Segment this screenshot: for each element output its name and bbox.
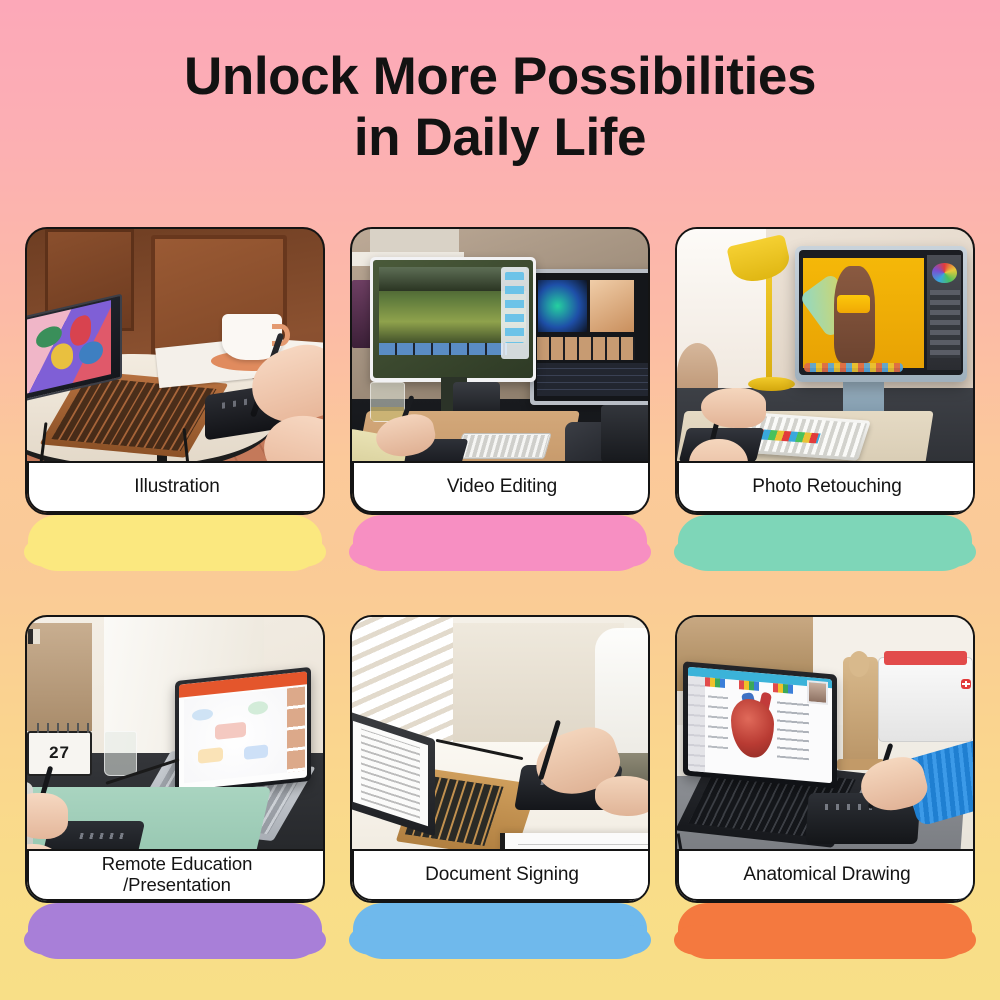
imac-display (795, 246, 967, 382)
first-aid-box (878, 657, 973, 742)
red-cross-icon (961, 679, 971, 688)
secondary-monitor (530, 269, 648, 405)
flip-calendar: 27 (27, 731, 92, 776)
card-frame: Video Editing (350, 227, 650, 515)
use-case-card-anatomical-drawing[interactable]: Anatomical Drawing (675, 615, 975, 947)
card-label-anatomical-drawing: Anatomical Drawing (677, 849, 975, 901)
card-label-illustration: Illustration (27, 461, 325, 513)
use-case-card-illustration[interactable]: Illustration (25, 227, 325, 559)
use-case-card-video-editing[interactable]: Video Editing (350, 227, 650, 559)
keyboard (455, 433, 551, 459)
card-label-line-2: /Presentation (102, 875, 253, 896)
page-title: Unlock More Possibilities in Daily Life (0, 46, 1000, 169)
card-frame: Photo Retouching (675, 227, 975, 515)
card-frame: Document Signing (350, 615, 650, 903)
card-frame: 27 (25, 615, 325, 903)
page-title-line-1: Unlock More Possibilities (184, 47, 816, 106)
camera-body (601, 405, 648, 462)
hand (595, 776, 648, 816)
card-shadow-blob (28, 903, 322, 959)
use-case-card-photo-retouching[interactable]: Photo Retouching (675, 227, 975, 559)
video-call-strip (287, 686, 305, 772)
use-case-card-remote-education[interactable]: 27 (25, 615, 325, 947)
card-shadow-blob (353, 515, 647, 571)
card-shadow-blob (678, 515, 972, 571)
laptop-screen-anatomy (683, 661, 837, 788)
card-shadow-blob (678, 903, 972, 959)
card-label-document-signing: Document Signing (352, 849, 650, 901)
card-label-video-editing: Video Editing (352, 461, 650, 513)
card-frame: Illustration (25, 227, 325, 515)
card-shadow-blob (28, 515, 322, 571)
card-label-line-1: Remote Education (102, 854, 253, 875)
card-label-photo-retouching: Photo Retouching (677, 461, 975, 513)
laptop-screen-mindmap (175, 667, 311, 795)
use-case-card-grid: Illustration (25, 227, 975, 947)
card-shadow-blob (353, 903, 647, 959)
card-label-remote-education: Remote Education /Presentation (27, 849, 325, 901)
color-wheel (932, 263, 957, 283)
page-title-line-2: in Daily Life (0, 107, 1000, 168)
poster-root: Unlock More Possibilities in Daily Life (0, 0, 1000, 1000)
hand (27, 793, 68, 838)
water-glass (104, 731, 137, 776)
card-frame: Anatomical Drawing (675, 615, 975, 903)
hand (701, 388, 766, 428)
use-case-card-document-signing[interactable]: Document Signing (350, 615, 650, 947)
calendar-number: 27 (29, 733, 90, 774)
primary-monitor (370, 257, 536, 382)
